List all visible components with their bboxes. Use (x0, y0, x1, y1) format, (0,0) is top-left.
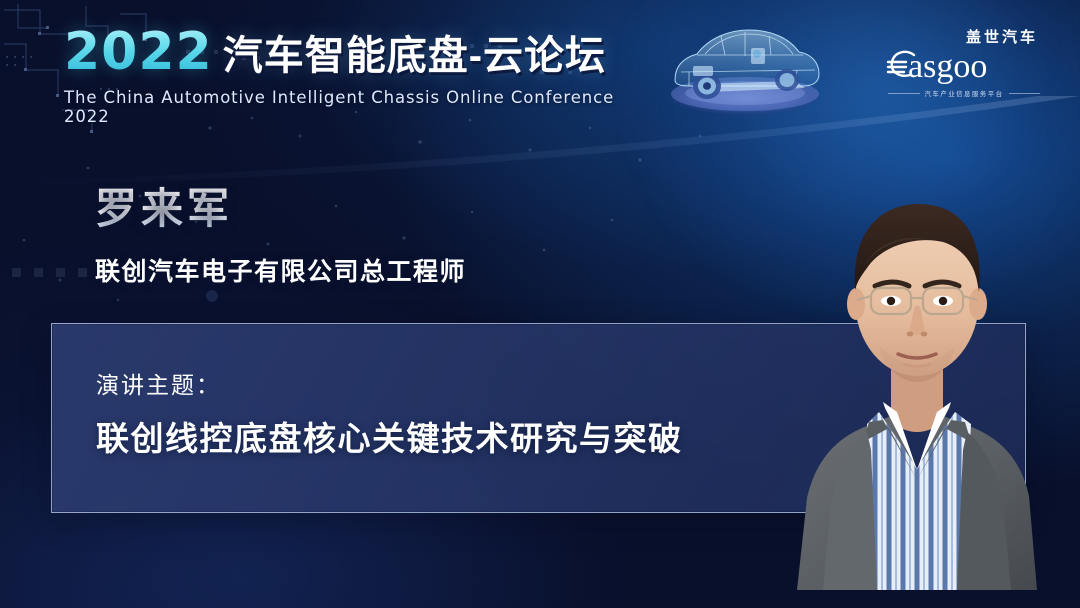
gasgoo-tagline-row: 汽车产业信息服务平台 (888, 88, 1040, 98)
speaker-title: 联创汽车电子有限公司总工程师 (95, 252, 466, 288)
topic-text: 联创线控底盘核心关键技术研究与突破 (96, 412, 683, 460)
gasgoo-wordmark-icon: asgoo (884, 42, 1044, 84)
gasgoo-logo: 盖世汽车 asgoo 汽车产业信息服务平台 (884, 26, 1044, 110)
tagline-rule-left (888, 93, 920, 94)
conference-title-slide: 2022 汽车智能底盘-云论坛 The China Automotive Int… (0, 0, 1080, 608)
tagline-rule-right (1009, 93, 1041, 94)
conference-year: 2022 (64, 26, 213, 78)
speaker-portrait (757, 150, 1077, 590)
title-row: 2022 汽车智能底盘-云论坛 (64, 22, 624, 78)
gasgoo-tagline: 汽车产业信息服务平台 (925, 88, 1004, 98)
speaker-name: 罗来军 (95, 186, 233, 232)
conference-title-en: The China Automotive Intelligent Chassis… (64, 88, 624, 126)
header-banner: 2022 汽车智能底盘-云论坛 The China Automotive Int… (0, 0, 1080, 120)
holographic-car-icon (645, 8, 845, 120)
topic-label: 演讲主题： (96, 366, 221, 400)
conference-title-cn: 汽车智能底盘-云论坛 (223, 34, 606, 78)
conference-title-block: 2022 汽车智能底盘-云论坛 The China Automotive Int… (64, 22, 624, 126)
svg-text:asgoo: asgoo (908, 48, 987, 84)
